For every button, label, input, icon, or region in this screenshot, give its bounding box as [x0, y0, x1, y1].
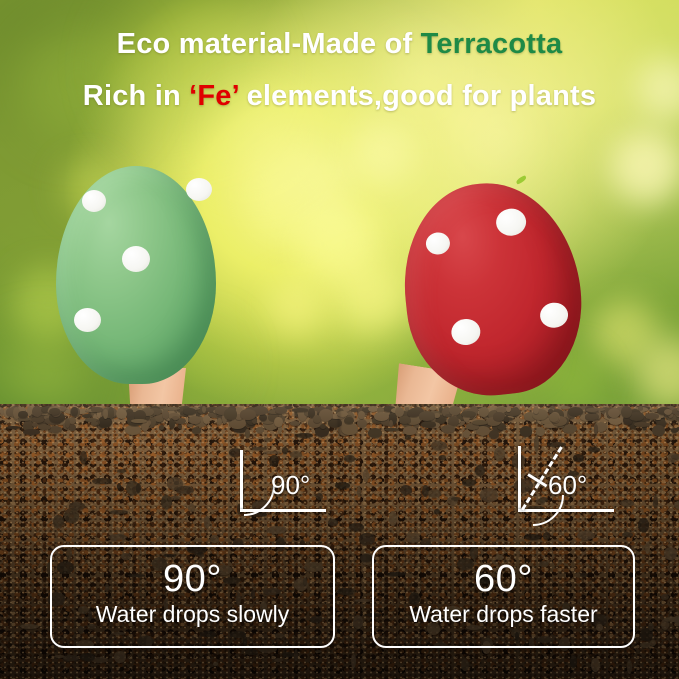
headline-line-1: Eco material-Made of Terracotta	[0, 28, 679, 61]
caption-90-text: Water drops slowly	[52, 601, 333, 627]
headline-fe-highlight: ‘Fe’	[189, 80, 238, 112]
caption-90-angle: 90°	[52, 559, 333, 599]
red-bulb-body	[394, 174, 590, 403]
caption-60-angle: 60°	[374, 559, 633, 599]
caption-card-90: 90° Water drops slowly	[50, 545, 335, 648]
badge-90-vertical-line	[240, 450, 243, 512]
caption-card-60: 60° Water drops faster	[372, 545, 635, 648]
badge-60-horizontal-line	[518, 509, 614, 512]
product-infographic: Eco material-Made of Terracotta Rich in …	[0, 0, 679, 679]
green-bulb-dot	[186, 178, 212, 201]
headline-line-2-suffix: elements,good for plants	[238, 80, 596, 112]
angle-badge-90: 90°	[240, 450, 330, 514]
red-spike-bulb	[394, 174, 590, 403]
green-bulb-dot	[82, 190, 106, 212]
headline-line-2: Rich in ‘Fe’ elements,good for plants	[0, 80, 679, 113]
badge-60-label: 60°	[548, 470, 587, 501]
badge-60-vertical-line	[518, 446, 521, 512]
green-spike-bulb	[56, 166, 216, 384]
headline-line-2-prefix: Rich in	[83, 80, 189, 112]
headline-line-1-prefix: Eco material-Made of	[117, 28, 421, 60]
angle-badge-60: 60°	[518, 446, 618, 514]
green-bulb-dot	[74, 308, 101, 332]
headline-terracotta-highlight: Terracotta	[421, 28, 563, 60]
caption-60-text: Water drops faster	[374, 601, 633, 627]
green-bulb-dot	[122, 246, 150, 272]
badge-90-label: 90°	[271, 470, 310, 501]
